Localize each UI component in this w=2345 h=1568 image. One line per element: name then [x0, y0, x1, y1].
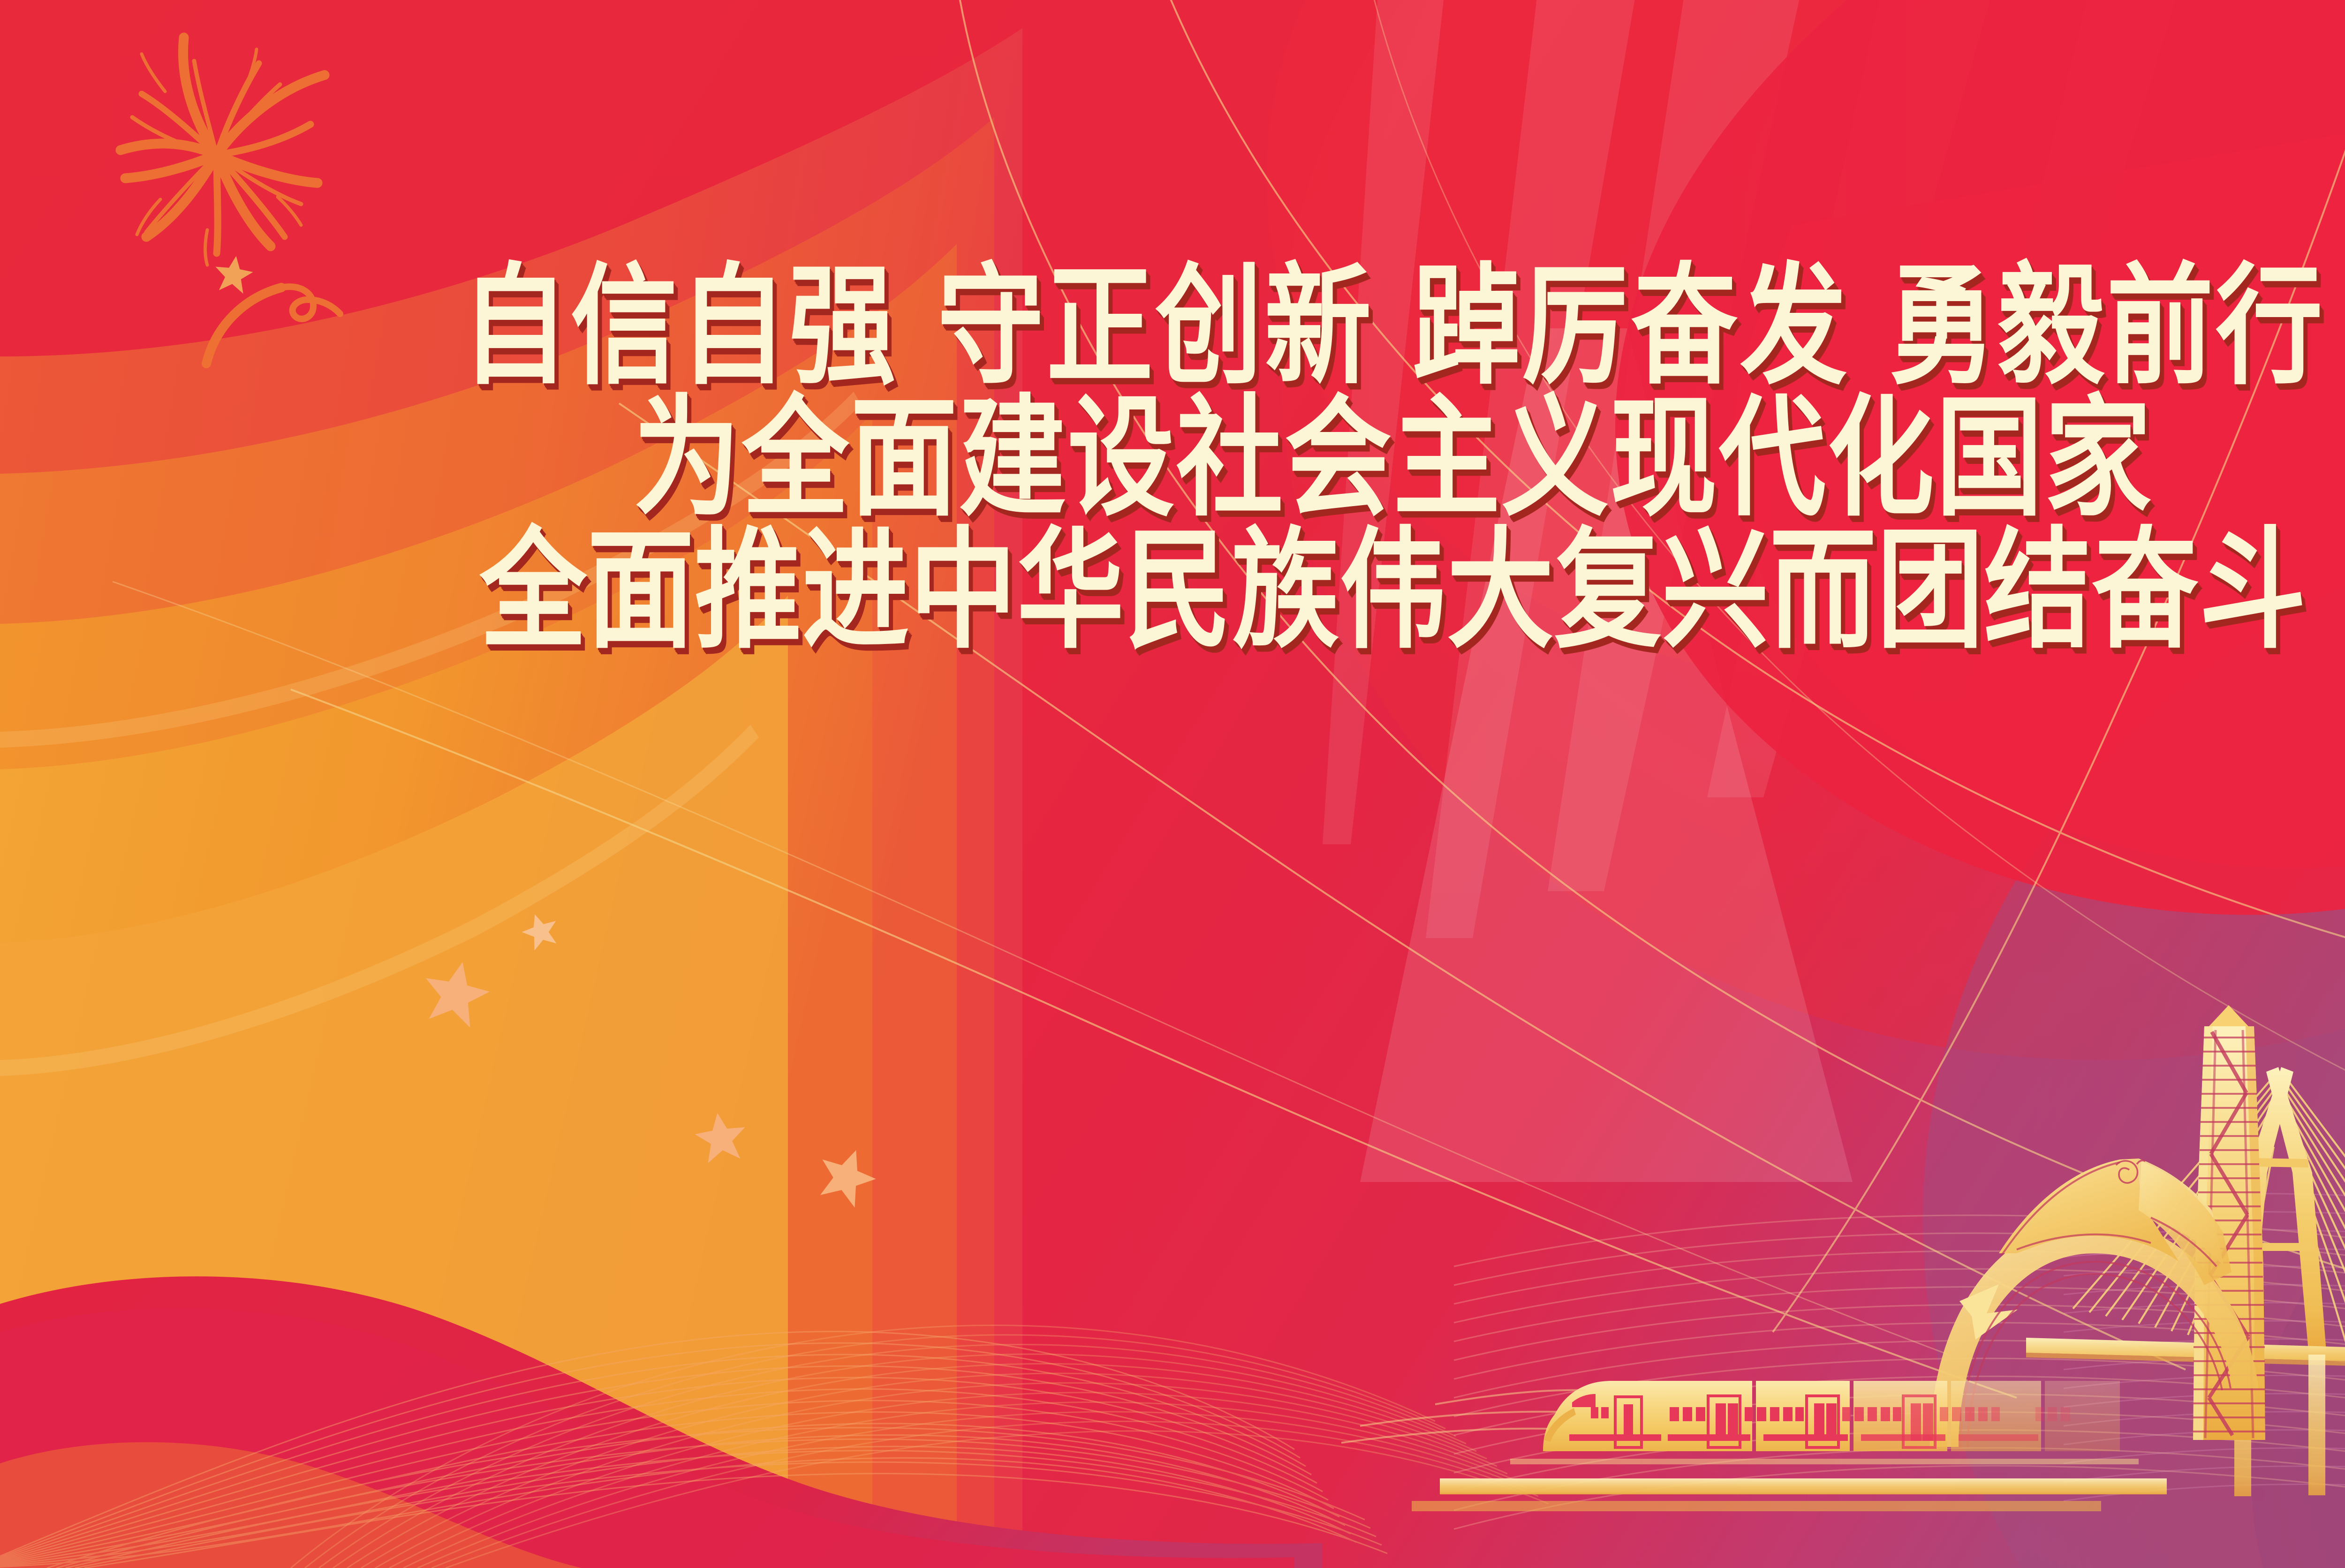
skyline-illustration	[0, 0, 2345, 1568]
poster-canvas: 自信自强 守正创新 踔厉奋发 勇毅前行 为全面建设社会主义现代化国家 全面推进中…	[0, 0, 2345, 1568]
